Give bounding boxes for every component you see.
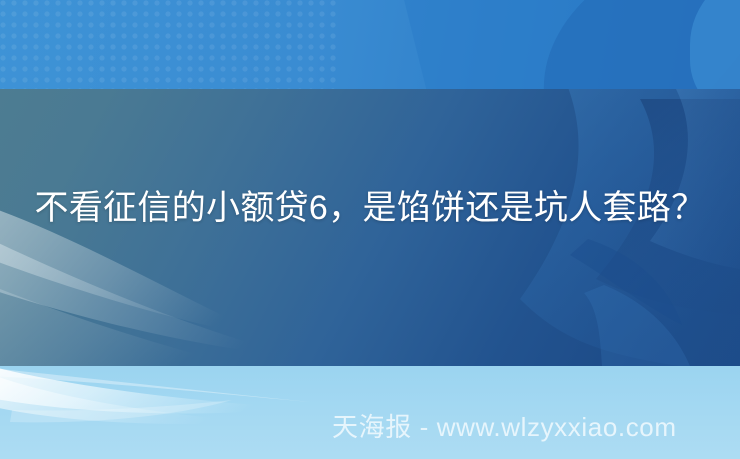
watermark-text: 天海报 - www.wlzyxxiao.com xyxy=(332,412,677,442)
poster-canvas: 不看征信的小额贷6，是馅饼还是坑人套路？ 天海报 - www.wlzyxxiao… xyxy=(0,0,740,459)
site-watermark: 天海报 - www.wlzyxxiao.com xyxy=(332,410,677,444)
top-wave-shape-c xyxy=(690,0,740,89)
poster-title-text: 不看征信的小额贷6，是馅饼还是坑人套路？ xyxy=(35,189,706,227)
poster-title: 不看征信的小额贷6，是馅饼还是坑人套路？ xyxy=(34,183,706,233)
dot-grid-pattern xyxy=(0,0,340,89)
top-color-band xyxy=(0,0,740,89)
